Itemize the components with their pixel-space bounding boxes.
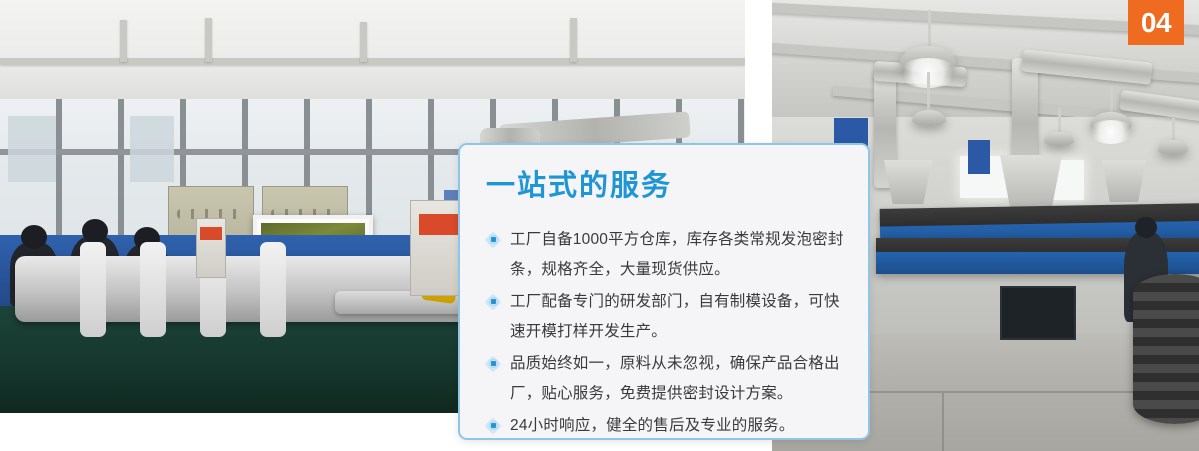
ceiling-beam (0, 58, 745, 65)
diamond-bullet-icon (486, 419, 500, 433)
list-item: 工厂配备专门的研发部门，自有制模设备，可快速开模打样开发生产。 (486, 287, 846, 347)
ceiling-post (205, 18, 212, 62)
ceiling-post (120, 20, 127, 62)
list-item-text: 工厂配备专门的研发部门，自有制模设备，可快速开模打样开发生产。 (510, 293, 840, 340)
diamond-bullet-icon (486, 233, 500, 247)
ceiling-post (570, 18, 577, 62)
pendant-lamp (1044, 132, 1074, 146)
window-pane (130, 116, 174, 182)
lamp-rod (927, 72, 930, 114)
blue-door (968, 140, 990, 174)
controller-panel-small (196, 218, 226, 278)
banner-stage: 04 一站式的服务 工厂自备1000平方仓库，库存各类常规发泡密封条，规格齐全，… (0, 0, 1199, 451)
lamp-glow (1088, 120, 1134, 144)
extruder-ring (260, 242, 286, 338)
extruder-ring (80, 242, 106, 338)
list-item-text: 24小时响应，健全的售后及专业的服务。 (510, 417, 795, 434)
section-number-text: 04 (1141, 9, 1171, 37)
list-item: 品质始终如一，原料从未忽视，确保产品合格出厂，贴心服务，免费提供密封设计方案。 (486, 349, 846, 409)
section-number-badge: 04 (1128, 0, 1184, 45)
feature-list: 工厂自备1000平方仓库，库存各类常规发泡密封条，规格齐全，大量现货供应。 工厂… (486, 225, 846, 441)
list-item: 24小时响应，健全的售后及专业的服务。 (486, 411, 846, 441)
service-info-card: 一站式的服务 工厂自备1000平方仓库，库存各类常规发泡密封条，规格齐全，大量现… (458, 143, 870, 440)
pendant-lamp (1158, 140, 1188, 155)
ceiling-band (0, 0, 745, 107)
diamond-bullet-icon (486, 295, 500, 309)
controller-display (200, 227, 221, 240)
list-item-text: 品质始终如一，原料从未忽视，确保产品合格出厂，贴心服务，免费提供密封设计方案。 (510, 355, 840, 402)
ceiling-post (360, 22, 367, 62)
cable-spool (1133, 274, 1199, 424)
list-item: 工厂自备1000平方仓库，库存各类常规发泡密封条，规格齐全，大量现货供应。 (486, 225, 846, 285)
floor-seam (942, 393, 944, 451)
extruder-ring (140, 242, 166, 338)
pendant-lamp (912, 110, 946, 126)
window-pane (8, 116, 56, 182)
storage-crate (1000, 286, 1076, 340)
page-title: 一站式的服务 (486, 171, 846, 203)
list-item-text: 工厂自备1000平方仓库，库存各类常规发泡密封条，规格齐全，大量现货供应。 (510, 231, 844, 278)
diamond-bullet-icon (486, 357, 500, 371)
